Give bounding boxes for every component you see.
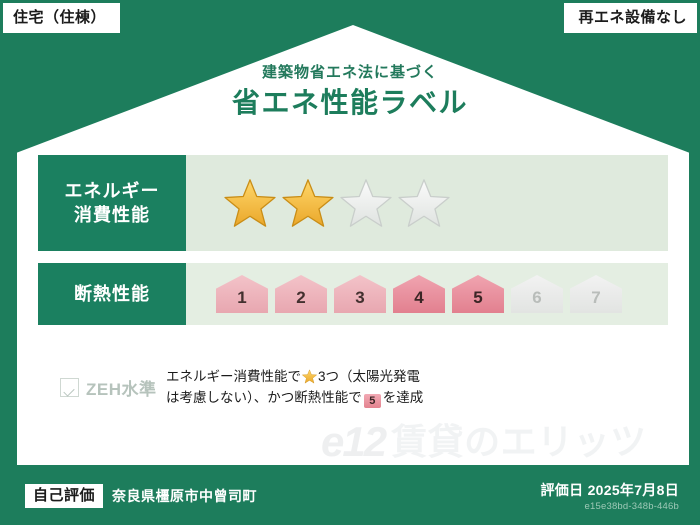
zeh-standard-indicator: ZEH水準	[38, 367, 158, 400]
renewable-equipment-tag: 再エネ設備なし	[564, 3, 697, 33]
label-id: e15e38bd-348b-446b	[540, 501, 679, 512]
footer-right: 評価日 2025年7月8日 e15e38bd-348b-446b	[540, 482, 679, 512]
note-area: ZEH水準 エネルギー消費性能で3つ（太陽光発電 は考慮しない）、かつ断熱性能で…	[38, 367, 668, 409]
star-icon	[340, 177, 392, 229]
insulation-grade-1: 1	[216, 275, 268, 313]
star-icon	[282, 177, 334, 229]
insulation-performance-body: 1234567	[186, 263, 668, 325]
performance-note: エネルギー消費性能で3つ（太陽光発電 は考慮しない）、かつ断熱性能で5を達成	[158, 367, 668, 409]
energy-performance-label: エネルギー 消費性能	[38, 155, 186, 251]
building-type-tag: 住宅（住棟）	[3, 3, 120, 33]
insulation-label-text: 断熱性能	[74, 282, 150, 306]
footer-left: 自己評価 奈良県橿原市中曾司町	[25, 484, 257, 508]
energy-performance-body	[186, 155, 668, 251]
note-part1: エネルギー消費性能で	[166, 369, 301, 384]
star-icon	[224, 177, 276, 229]
energy-performance-row: エネルギー 消費性能	[38, 155, 668, 251]
self-evaluation-badge: 自己評価	[25, 484, 103, 508]
note-grade-badge: 5	[364, 394, 381, 408]
evaluation-date-label: 評価日	[540, 482, 583, 498]
energy-label-line2: 消費性能	[74, 203, 150, 227]
note-star-count: 3つ（太陽光発電	[318, 369, 420, 384]
insulation-grade-7: 7	[570, 275, 622, 313]
insulation-performance-row: 断熱性能 1234567	[38, 263, 668, 325]
insulation-performance-label: 断熱性能	[38, 263, 186, 325]
insulation-grade-3: 3	[334, 275, 386, 313]
energy-label-line1: エネルギー	[65, 179, 160, 203]
insulation-grade-5: 5	[452, 275, 504, 313]
evaluation-date: 評価日 2025年7月8日	[540, 482, 679, 499]
star-rating	[224, 177, 450, 229]
insulation-grade-6: 6	[511, 275, 563, 313]
checkbox-icon	[60, 378, 79, 397]
energy-performance-label: 住宅（住棟） 再エネ設備なし 建築物省エネ法に基づく 省エネ性能ラベル エネルギ…	[0, 0, 700, 525]
title-subtitle: 建築物省エネ法に基づく	[3, 65, 697, 82]
property-address: 奈良県橿原市中曾司町	[112, 486, 257, 506]
star-icon	[302, 369, 317, 384]
star-icon	[398, 177, 450, 229]
evaluation-date-value: 2025年7月8日	[588, 482, 679, 498]
note-part3: を達成	[383, 390, 424, 405]
insulation-grade-scale: 1234567	[216, 275, 622, 313]
performance-rows: エネルギー 消費性能 断熱性能 1234567	[38, 155, 668, 337]
title-block: 建築物省エネ法に基づく 省エネ性能ラベル	[3, 65, 697, 121]
insulation-grade-2: 2	[275, 275, 327, 313]
note-part2: は考慮しない）、かつ断熱性能で	[166, 390, 362, 405]
page-title: 省エネ性能ラベル	[3, 85, 697, 121]
insulation-grade-4: 4	[393, 275, 445, 313]
zeh-label: ZEH水準	[86, 375, 157, 400]
